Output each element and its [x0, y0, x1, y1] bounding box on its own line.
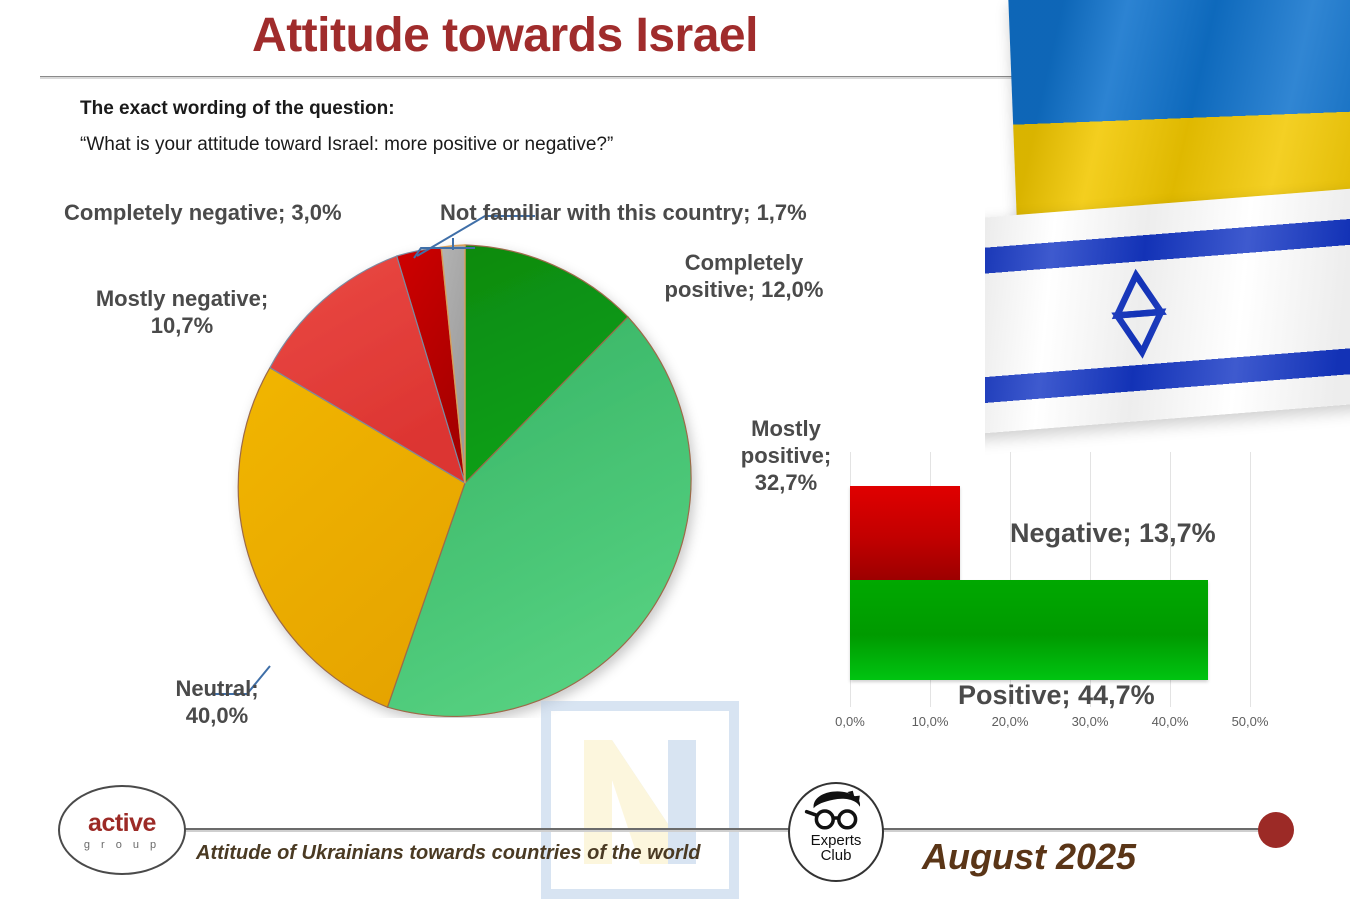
israel-flag	[985, 188, 1350, 436]
star-of-david-icon	[1090, 264, 1189, 363]
watermark-logo	[540, 700, 740, 900]
active-group-logo-top: active	[88, 809, 156, 838]
footer-date: August 2025	[922, 836, 1136, 878]
infographic-canvas: Attitude towards Israel The exact wordin…	[0, 0, 1350, 900]
bar-negative	[850, 486, 960, 580]
experts-club-logo-line2: Club	[821, 848, 852, 864]
pie-label-mostly-positive: Mostly positive; 32,7%	[726, 416, 846, 496]
glasses-face-icon	[801, 790, 871, 832]
pie-label-neutral-line2: 40,0%	[128, 703, 306, 730]
bar-positive	[850, 580, 1208, 680]
pie-label-neutral-line1: Neutral;	[128, 676, 306, 703]
xtick-30: 30,0%	[1072, 714, 1109, 729]
question-text: “What is your attitude toward Israel: mo…	[80, 134, 613, 156]
pie-label-completely-positive-line2: positive; 12,0%	[646, 277, 842, 304]
pie-label-mostly-negative-line2: 10,7%	[76, 313, 288, 340]
pie-label-mostly-positive-line3: 32,7%	[726, 470, 846, 497]
page-title: Attitude towards Israel	[0, 8, 1010, 63]
experts-club-logo: Experts Club	[788, 782, 884, 882]
xtick-40: 40,0%	[1152, 714, 1189, 729]
bar-label-negative: Negative; 13,7%	[1010, 518, 1216, 549]
footer-dot	[1258, 812, 1294, 848]
footer-divider	[160, 828, 1260, 832]
experts-club-logo-line1: Experts	[811, 833, 862, 848]
pie-label-completely-negative: Completely negative; 3,0%	[64, 200, 342, 227]
xtick-0: 0,0%	[835, 714, 865, 729]
xtick-10: 10,0%	[912, 714, 949, 729]
xtick-20: 20,0%	[992, 714, 1029, 729]
footer-caption: Attitude of Ukrainians towards countries…	[196, 842, 700, 865]
pie-label-not-familiar: Not familiar with this country; 1,7%	[440, 200, 807, 227]
active-group-logo: active g r o u p	[58, 785, 186, 875]
flags-group	[985, 0, 1350, 480]
question-label: The exact wording of the question:	[80, 98, 395, 120]
pie-label-neutral: Neutral; 40,0%	[128, 676, 306, 730]
header-divider	[40, 76, 1025, 79]
pie-label-mostly-negative-line1: Mostly negative;	[76, 286, 288, 313]
bar-chart-plot: Negative; 13,7% Positive; 44,7% 0,0% 10,…	[850, 452, 1290, 707]
bar-label-positive: Positive; 44,7%	[958, 680, 1155, 711]
pie-label-completely-positive: Completely positive; 12,0%	[646, 250, 842, 304]
pie-label-mostly-negative: Mostly negative; 10,7%	[76, 286, 288, 340]
pie-label-mostly-positive-line2: positive;	[726, 443, 846, 470]
pie-label-completely-positive-line1: Completely	[646, 250, 842, 277]
active-group-logo-bottom: g r o u p	[84, 839, 160, 851]
xtick-50: 50,0%	[1232, 714, 1269, 729]
bar-chart: Negative; 13,7% Positive; 44,7% 0,0% 10,…	[838, 452, 1316, 744]
gridline-50	[1250, 452, 1251, 707]
pie-label-mostly-positive-line1: Mostly	[726, 416, 846, 443]
